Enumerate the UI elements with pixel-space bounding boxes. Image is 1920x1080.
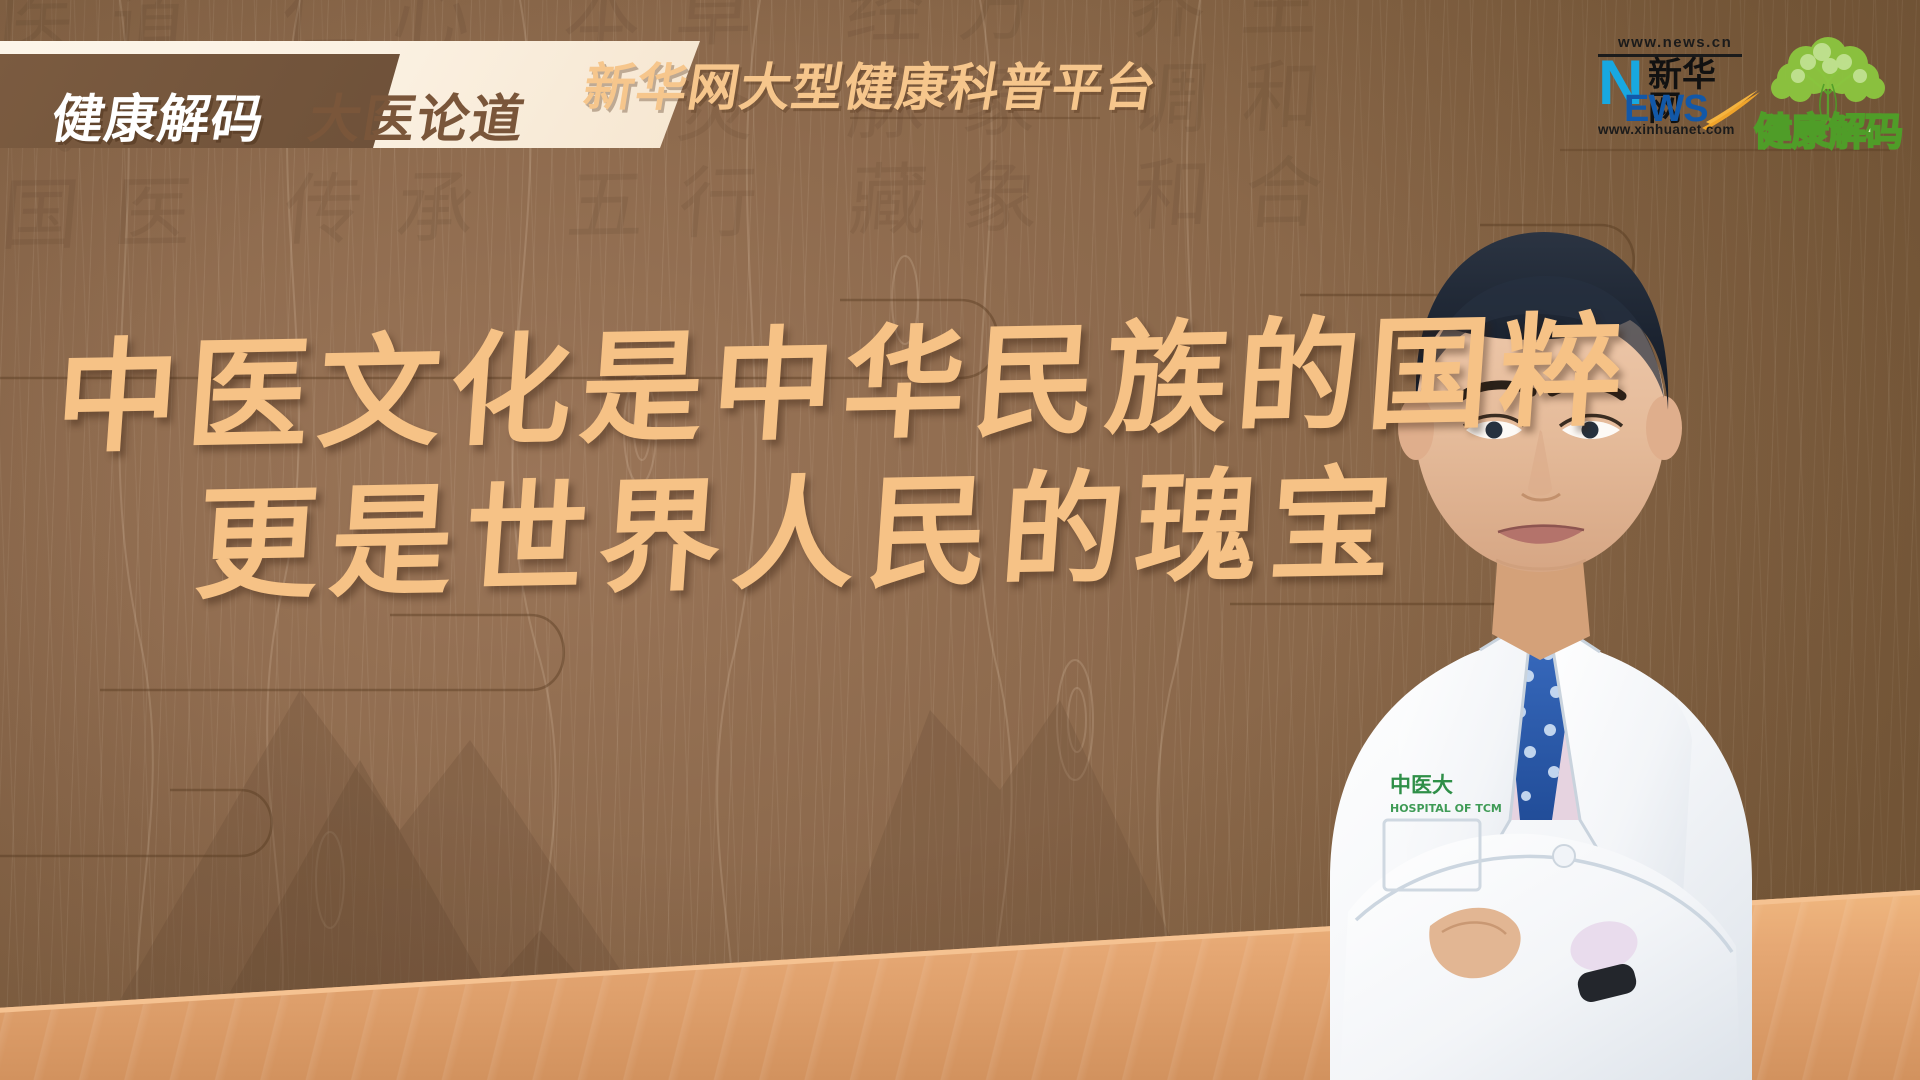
- program-tag-label: 健康解码: [47, 77, 271, 152]
- section-tag-label: 大医论道: [304, 77, 532, 152]
- health-decode-logo[interactable]: 健康解码: [1748, 22, 1908, 162]
- svg-text:中医大: 中医大: [1390, 773, 1453, 797]
- svg-text:HOSPITAL OF TCM: HOSPITAL OF TCM: [1390, 802, 1502, 815]
- poster-canvas: 医道 仁心 本草 经方 养生 气血 阴阳 针灸 脉象 调和 国医 传承 五行 藏…: [0, 0, 1920, 1080]
- xinhua-url-bottom: www.xinhuanet.com: [1598, 122, 1735, 137]
- doctor-portrait: 中医大 HOSPITAL OF TCM: [1180, 120, 1920, 1080]
- xinhua-logo[interactable]: www.news.cn N 新华网 EWS www.xinhuanet.com: [1596, 32, 1746, 136]
- health-decode-label: 健康解码: [1748, 112, 1908, 152]
- tagline-label: 新华网大型健康科普平台: [579, 46, 1163, 120]
